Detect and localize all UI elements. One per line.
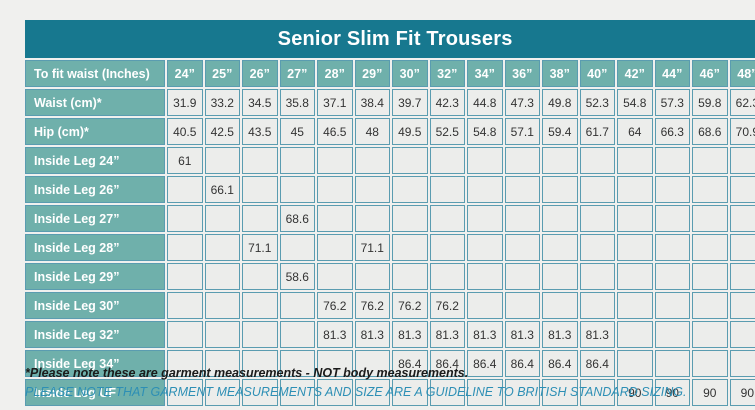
- chart-title-row: Senior Slim Fit Trousers: [25, 20, 755, 58]
- measurement-cell: [692, 176, 728, 203]
- measurement-cell: [430, 205, 466, 232]
- measurement-cell: 76.2: [430, 292, 466, 319]
- measurement-cell: [430, 147, 466, 174]
- measurement-cell: [730, 263, 755, 290]
- size-chart-table: Senior Slim Fit Trousers To fit waist (I…: [23, 18, 755, 408]
- footer-notes: *Please note these are garment measureme…: [25, 366, 735, 400]
- row-label: Inside Leg 28”: [25, 234, 165, 261]
- measurement-cell: [692, 321, 728, 348]
- measurement-cell: [317, 263, 353, 290]
- footer-note-bold: *Please note these are garment measureme…: [25, 366, 735, 381]
- table-row: Inside Leg 28”71.171.1: [25, 234, 755, 261]
- measurement-cell: [692, 205, 728, 232]
- measurement-cell: [467, 147, 503, 174]
- measurement-cell: [730, 234, 755, 261]
- table-row: Inside Leg 30”76.276.276.276.2: [25, 292, 755, 319]
- measurement-cell: [542, 147, 578, 174]
- measurement-cell: [205, 205, 241, 232]
- size-chart-page: Senior Slim Fit Trousers To fit waist (I…: [0, 0, 755, 410]
- measurement-cell: [505, 147, 541, 174]
- measurement-cell: [242, 321, 278, 348]
- measurement-cell: 48: [355, 118, 391, 145]
- measurement-cell: 59.8: [692, 89, 728, 116]
- measurement-cell: 38.4: [355, 89, 391, 116]
- measurement-cell: 47.3: [505, 89, 541, 116]
- measurement-cell: [355, 205, 391, 232]
- measurement-cell: 39.7: [392, 89, 428, 116]
- measurement-cell: 42.3: [430, 89, 466, 116]
- measurement-cell: [467, 176, 503, 203]
- measurement-cell: [542, 176, 578, 203]
- table-row: Inside Leg 29”58.6: [25, 263, 755, 290]
- measurement-cell: [692, 234, 728, 261]
- measurement-cell: [655, 234, 691, 261]
- measurement-cell: 49.5: [392, 118, 428, 145]
- measurement-cell: 61: [167, 147, 203, 174]
- measurement-cell: [392, 263, 428, 290]
- column-header-size: 27”: [280, 60, 316, 87]
- measurement-cell: [430, 176, 466, 203]
- row-label: Inside Leg 24”: [25, 147, 165, 174]
- measurement-cell: 70.9: [730, 118, 755, 145]
- measurement-cell: [617, 147, 653, 174]
- measurement-cell: 46.5: [317, 118, 353, 145]
- measurement-cell: [580, 147, 616, 174]
- table-row: Hip (cm)*40.542.543.54546.54849.552.554.…: [25, 118, 755, 145]
- measurement-cell: [392, 234, 428, 261]
- measurement-cell: 76.2: [355, 292, 391, 319]
- measurement-cell: [617, 321, 653, 348]
- column-header-size: 42”: [617, 60, 653, 87]
- column-header-row: To fit waist (Inches) 24”25”26”27”28”29”…: [25, 60, 755, 87]
- measurement-cell: [505, 292, 541, 319]
- measurement-cell: [617, 263, 653, 290]
- row-label: Inside Leg 27”: [25, 205, 165, 232]
- row-label: Inside Leg 30”: [25, 292, 165, 319]
- measurement-cell: 81.3: [505, 321, 541, 348]
- measurement-cell: [355, 147, 391, 174]
- measurement-cell: 61.7: [580, 118, 616, 145]
- measurement-cell: [692, 292, 728, 319]
- table-row: Inside Leg 32”81.381.381.381.381.381.381…: [25, 321, 755, 348]
- measurement-cell: [730, 176, 755, 203]
- table-row: Inside Leg 27”68.6: [25, 205, 755, 232]
- measurement-cell: 52.5: [430, 118, 466, 145]
- measurement-cell: 81.3: [317, 321, 353, 348]
- footer-note-teal: PLEASE NOTE THAT GARMENT MEASUREMENTS AN…: [25, 385, 735, 400]
- measurement-cell: [280, 147, 316, 174]
- row-label: Waist (cm)*: [25, 89, 165, 116]
- table-row: Waist (cm)*31.933.234.535.837.138.439.74…: [25, 89, 755, 116]
- measurement-cell: 33.2: [205, 89, 241, 116]
- measurement-cell: [167, 176, 203, 203]
- measurement-cell: [430, 263, 466, 290]
- measurement-cell: [167, 234, 203, 261]
- measurement-cell: 71.1: [242, 234, 278, 261]
- measurement-cell: 64: [617, 118, 653, 145]
- column-header-size: 46”: [692, 60, 728, 87]
- measurement-cell: [542, 263, 578, 290]
- measurement-cell: [655, 147, 691, 174]
- row-label: Hip (cm)*: [25, 118, 165, 145]
- measurement-cell: 52.3: [580, 89, 616, 116]
- row-label: Inside Leg 26”: [25, 176, 165, 203]
- table-body: Waist (cm)*31.933.234.535.837.138.439.74…: [25, 89, 755, 406]
- measurement-cell: [317, 147, 353, 174]
- measurement-cell: [280, 321, 316, 348]
- measurement-cell: [205, 147, 241, 174]
- measurement-cell: [655, 205, 691, 232]
- measurement-cell: [242, 147, 278, 174]
- measurement-cell: [242, 292, 278, 319]
- measurement-cell: [505, 263, 541, 290]
- measurement-cell: [280, 234, 316, 261]
- measurement-cell: [392, 205, 428, 232]
- measurement-cell: [205, 321, 241, 348]
- column-header-size: 40”: [580, 60, 616, 87]
- measurement-cell: 45: [280, 118, 316, 145]
- measurement-cell: 37.1: [317, 89, 353, 116]
- measurement-cell: 81.3: [467, 321, 503, 348]
- measurement-cell: 71.1: [355, 234, 391, 261]
- measurement-cell: 58.6: [280, 263, 316, 290]
- column-header-size: 24”: [167, 60, 203, 87]
- measurement-cell: [467, 263, 503, 290]
- measurement-cell: 66.3: [655, 118, 691, 145]
- column-header-size: 26”: [242, 60, 278, 87]
- measurement-cell: 31.9: [167, 89, 203, 116]
- measurement-cell: 42.5: [205, 118, 241, 145]
- measurement-cell: [730, 321, 755, 348]
- measurement-cell: 59.4: [542, 118, 578, 145]
- measurement-cell: [617, 234, 653, 261]
- measurement-cell: [317, 205, 353, 232]
- measurement-cell: [242, 263, 278, 290]
- measurement-cell: [505, 205, 541, 232]
- row-label: Inside Leg 29”: [25, 263, 165, 290]
- measurement-cell: [580, 234, 616, 261]
- column-header-size: 32”: [430, 60, 466, 87]
- measurement-cell: [655, 321, 691, 348]
- measurement-cell: 81.3: [392, 321, 428, 348]
- measurement-cell: [167, 205, 203, 232]
- measurement-cell: [355, 176, 391, 203]
- measurement-cell: [542, 292, 578, 319]
- measurement-cell: [317, 234, 353, 261]
- measurement-cell: 57.1: [505, 118, 541, 145]
- measurement-cell: 34.5: [242, 89, 278, 116]
- measurement-cell: 76.2: [392, 292, 428, 319]
- measurement-cell: 68.6: [692, 118, 728, 145]
- measurement-cell: [617, 292, 653, 319]
- measurement-cell: [692, 263, 728, 290]
- measurement-cell: 57.3: [655, 89, 691, 116]
- measurement-cell: [280, 292, 316, 319]
- measurement-cell: 40.5: [167, 118, 203, 145]
- measurement-cell: [467, 205, 503, 232]
- measurement-cell: [692, 147, 728, 174]
- row-header-label: To fit waist (Inches): [25, 60, 165, 87]
- measurement-cell: [317, 176, 353, 203]
- measurement-cell: [505, 176, 541, 203]
- measurement-cell: [467, 292, 503, 319]
- measurement-cell: 81.3: [580, 321, 616, 348]
- page-title: Senior Slim Fit Trousers: [25, 20, 755, 58]
- measurement-cell: 76.2: [317, 292, 353, 319]
- measurement-cell: 81.3: [355, 321, 391, 348]
- measurement-cell: [430, 234, 466, 261]
- measurement-cell: 54.8: [467, 118, 503, 145]
- measurement-cell: [505, 234, 541, 261]
- measurement-cell: 35.8: [280, 89, 316, 116]
- measurement-cell: [655, 292, 691, 319]
- measurement-cell: [392, 176, 428, 203]
- measurement-cell: [167, 292, 203, 319]
- measurement-cell: 81.3: [430, 321, 466, 348]
- measurement-cell: [617, 205, 653, 232]
- measurement-cell: 81.3: [542, 321, 578, 348]
- measurement-cell: [167, 263, 203, 290]
- table-row: Inside Leg 24”61: [25, 147, 755, 174]
- measurement-cell: [205, 263, 241, 290]
- column-header-size: 25”: [205, 60, 241, 87]
- measurement-cell: 62.3: [730, 89, 755, 116]
- measurement-cell: [730, 147, 755, 174]
- column-header-size: 44”: [655, 60, 691, 87]
- measurement-cell: [730, 292, 755, 319]
- measurement-cell: [167, 321, 203, 348]
- measurement-cell: [542, 234, 578, 261]
- measurement-cell: 49.8: [542, 89, 578, 116]
- measurement-cell: [355, 263, 391, 290]
- measurement-cell: 66.1: [205, 176, 241, 203]
- measurement-cell: 44.8: [467, 89, 503, 116]
- measurement-cell: [655, 263, 691, 290]
- measurement-cell: [205, 234, 241, 261]
- measurement-cell: [730, 205, 755, 232]
- measurement-cell: [467, 234, 503, 261]
- column-header-size: 28”: [317, 60, 353, 87]
- column-header-size: 38”: [542, 60, 578, 87]
- measurement-cell: [580, 292, 616, 319]
- measurement-cell: 43.5: [242, 118, 278, 145]
- column-header-size: 48”: [730, 60, 755, 87]
- column-header-size: 30”: [392, 60, 428, 87]
- size-chart-container: Senior Slim Fit Trousers To fit waist (I…: [23, 18, 732, 408]
- table-row: Inside Leg 26”66.1: [25, 176, 755, 203]
- column-header-size: 29”: [355, 60, 391, 87]
- measurement-cell: [242, 205, 278, 232]
- row-label: Inside Leg 32”: [25, 321, 165, 348]
- measurement-cell: [580, 263, 616, 290]
- measurement-cell: [617, 176, 653, 203]
- column-header-size: 36”: [505, 60, 541, 87]
- table-head: Senior Slim Fit Trousers To fit waist (I…: [25, 20, 755, 87]
- measurement-cell: [580, 176, 616, 203]
- measurement-cell: [580, 205, 616, 232]
- measurement-cell: 68.6: [280, 205, 316, 232]
- column-header-size: 34”: [467, 60, 503, 87]
- measurement-cell: 54.8: [617, 89, 653, 116]
- measurement-cell: [655, 176, 691, 203]
- measurement-cell: [280, 176, 316, 203]
- measurement-cell: [392, 147, 428, 174]
- measurement-cell: [242, 176, 278, 203]
- measurement-cell: [205, 292, 241, 319]
- measurement-cell: [542, 205, 578, 232]
